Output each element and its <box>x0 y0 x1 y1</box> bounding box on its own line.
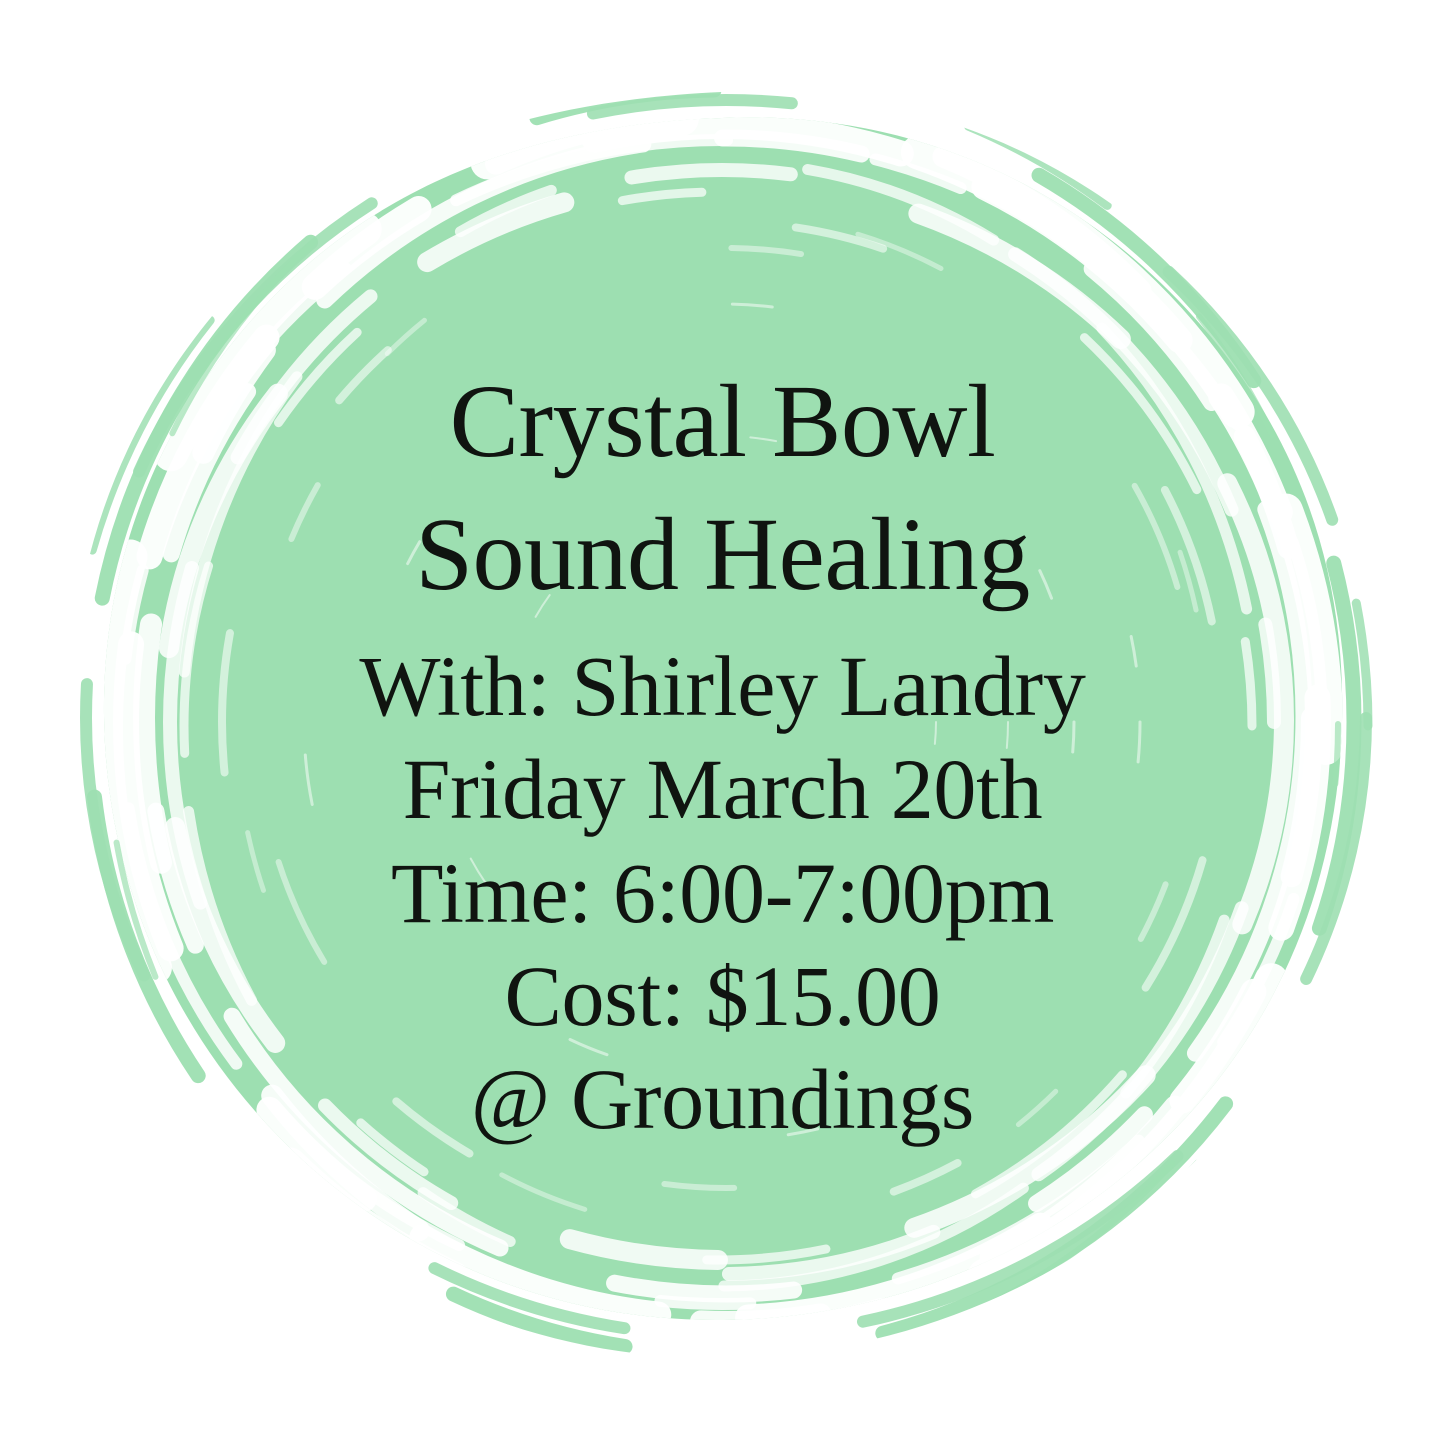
event-poster: Crystal Bowl Sound Healing With: Shirley… <box>0 0 1445 1445</box>
brush-circle-graphic <box>0 0 1445 1445</box>
